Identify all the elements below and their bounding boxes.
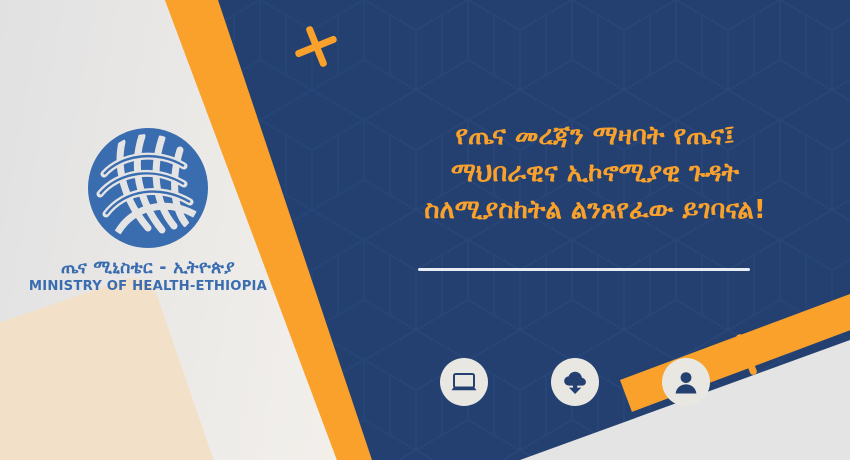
headline: የጤና መረጃን ማዛባት የጤና፤ ማህበራዊና ኢኮኖሚያዊ ጉዳት ስለሚ…: [352, 118, 838, 229]
headline-divider-rule: [418, 268, 750, 271]
ministry-of-health-knot-emblem: [88, 128, 208, 248]
headline-line-3: ስለሚያስከትል ልንጸየፈው ይገባናል!: [352, 192, 838, 229]
logo-name-english: MINISTRY OF HEALTH-ETHIOPIA: [18, 279, 278, 294]
laptop-icon[interactable]: [440, 358, 488, 406]
headline-line-1: የጤና መረጃን ማዛባት የጤና፤: [352, 118, 838, 155]
health-awareness-banner: ጤና ሚኒስቴር - ኢትዮጵያ MINISTRY OF HEALTH-ETHI…: [0, 0, 850, 460]
logo-block: ጤና ሚኒስቴር - ኢትዮጵያ MINISTRY OF HEALTH-ETHI…: [18, 128, 278, 294]
logo-name-amharic: ጤና ሚኒስቴር - ኢትዮጵያ: [18, 258, 278, 278]
icon-row: [440, 358, 710, 406]
user-icon[interactable]: [662, 358, 710, 406]
cloud-download-icon[interactable]: [551, 358, 599, 406]
headline-line-2: ማህበራዊና ኢኮኖሚያዊ ጉዳት: [352, 155, 838, 192]
